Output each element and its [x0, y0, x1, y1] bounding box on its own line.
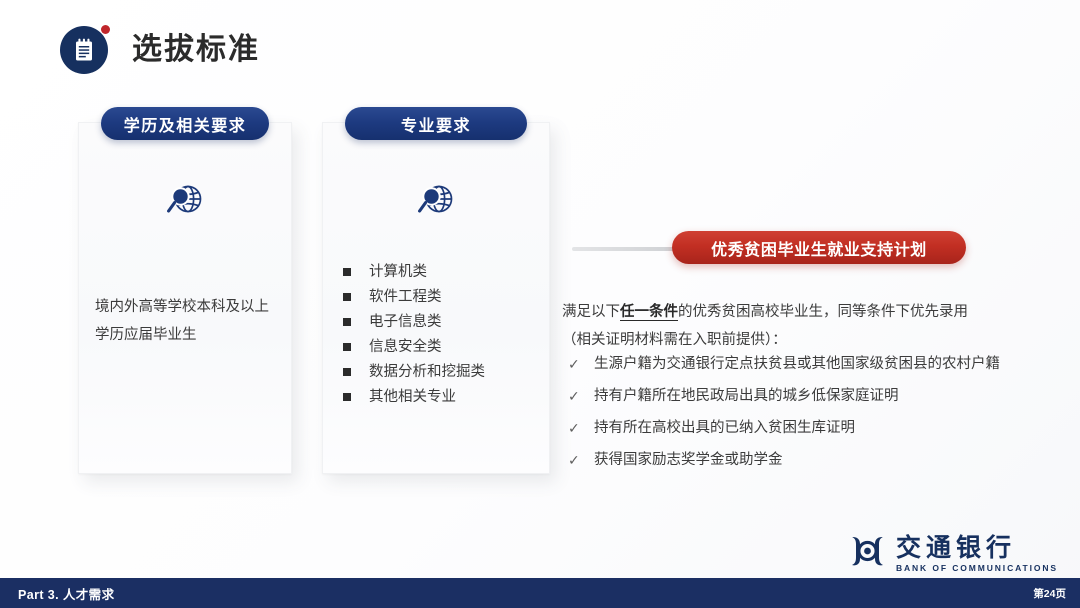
square-bullet-icon	[343, 393, 351, 401]
list-item-label: 计算机类	[369, 265, 427, 280]
list-item: 计算机类	[343, 265, 485, 280]
card-2-pill-label: 专业要求	[345, 107, 527, 140]
card-major-requirements: 专业要求 计算机类 软件工程类	[322, 122, 550, 474]
globe-search-icon	[323, 181, 549, 221]
eligibility-checklist: ✓ 生源户籍为交通银行定点扶贫县或其他国家级贫困县的农村户籍 ✓ 持有户籍所在地…	[568, 355, 1068, 483]
square-bullet-icon	[343, 343, 351, 351]
square-bullet-icon	[343, 268, 351, 276]
logo-name-cn: 交通银行	[896, 535, 1016, 561]
major-bullet-list: 计算机类 软件工程类 电子信息类 信息安全类 数据分析和挖掘类 其他相关专业	[343, 265, 485, 415]
list-item: 信息安全类	[343, 340, 485, 355]
list-item: 其他相关专业	[343, 390, 485, 405]
page-header: 选拔标准	[60, 26, 260, 74]
card-1-pill-label: 学历及相关要求	[101, 107, 269, 140]
slide-root: 选拔标准 学历及相关要求 境内外高等学校本科及以上学历应届毕业生 专业要求	[0, 0, 1080, 608]
list-item-label: 持有所在高校出具的已纳入贫困生库证明	[594, 419, 855, 437]
list-item: 数据分析和挖掘类	[343, 365, 485, 380]
square-bullet-icon	[343, 368, 351, 376]
card-1-body-text: 境内外高等学校本科及以上学历应届毕业生	[95, 293, 277, 350]
list-item: ✓ 持有所在高校出具的已纳入贫困生库证明	[568, 419, 1068, 437]
check-icon: ✓	[568, 355, 594, 373]
intro-note: （相关证明材料需在入职前提供）：	[562, 332, 787, 348]
check-icon: ✓	[568, 451, 594, 469]
intro-prefix: 满足以下	[562, 304, 620, 320]
clipboard-icon	[60, 26, 108, 74]
card-education-requirements: 学历及相关要求 境内外高等学校本科及以上学历应届毕业生	[78, 122, 292, 474]
footer-bar: Part 3. 人才需求 第24页	[0, 578, 1080, 608]
check-icon: ✓	[568, 387, 594, 405]
list-item-label: 数据分析和挖掘类	[369, 365, 485, 380]
bocom-logo-icon	[849, 534, 887, 573]
intro-emphasis: 任一条件	[620, 304, 678, 321]
list-item: 软件工程类	[343, 290, 485, 305]
logo-name-en: BANK OF COMMUNICATIONS	[896, 563, 1058, 573]
list-item-label: 获得国家励志奖学金或助学金	[594, 451, 783, 469]
square-bullet-icon	[343, 293, 351, 301]
list-item-label: 电子信息类	[369, 315, 442, 330]
footer-section-label: Part 3. 人才需求	[18, 584, 115, 603]
page-title: 选拔标准	[132, 35, 260, 65]
divider-line	[572, 247, 677, 251]
list-item-label: 其他相关专业	[369, 390, 456, 405]
list-item: 电子信息类	[343, 315, 485, 330]
support-plan-badge: 优秀贫困毕业生就业支持计划	[672, 231, 966, 264]
brand-logo: 交通银行 BANK OF COMMUNICATIONS	[849, 534, 1058, 573]
list-item: ✓ 持有户籍所在地民政局出具的城乡低保家庭证明	[568, 387, 1068, 405]
check-icon: ✓	[568, 419, 594, 437]
header-icon-wrap	[60, 26, 108, 74]
list-item-label: 生源户籍为交通银行定点扶贫县或其他国家级贫困县的农村户籍	[594, 355, 1000, 373]
list-item-label: 持有户籍所在地民政局出具的城乡低保家庭证明	[594, 387, 899, 405]
intro-paragraph: 满足以下任一条件的优秀贫困高校毕业生，同等条件下优先录用 （相关证明材料需在入职…	[562, 298, 1062, 355]
square-bullet-icon	[343, 318, 351, 326]
list-item: ✓ 获得国家励志奖学金或助学金	[568, 451, 1068, 469]
logo-text: 交通银行 BANK OF COMMUNICATIONS	[896, 535, 1058, 573]
globe-search-icon	[79, 181, 291, 221]
list-item-label: 软件工程类	[369, 290, 442, 305]
list-item-label: 信息安全类	[369, 340, 442, 355]
notification-dot-icon	[101, 25, 110, 34]
list-item: ✓ 生源户籍为交通银行定点扶贫县或其他国家级贫困县的农村户籍	[568, 355, 1068, 373]
intro-suffix: 的优秀贫困高校毕业生，同等条件下优先录用	[678, 304, 968, 320]
footer-page-label: 第24页	[1033, 586, 1066, 601]
